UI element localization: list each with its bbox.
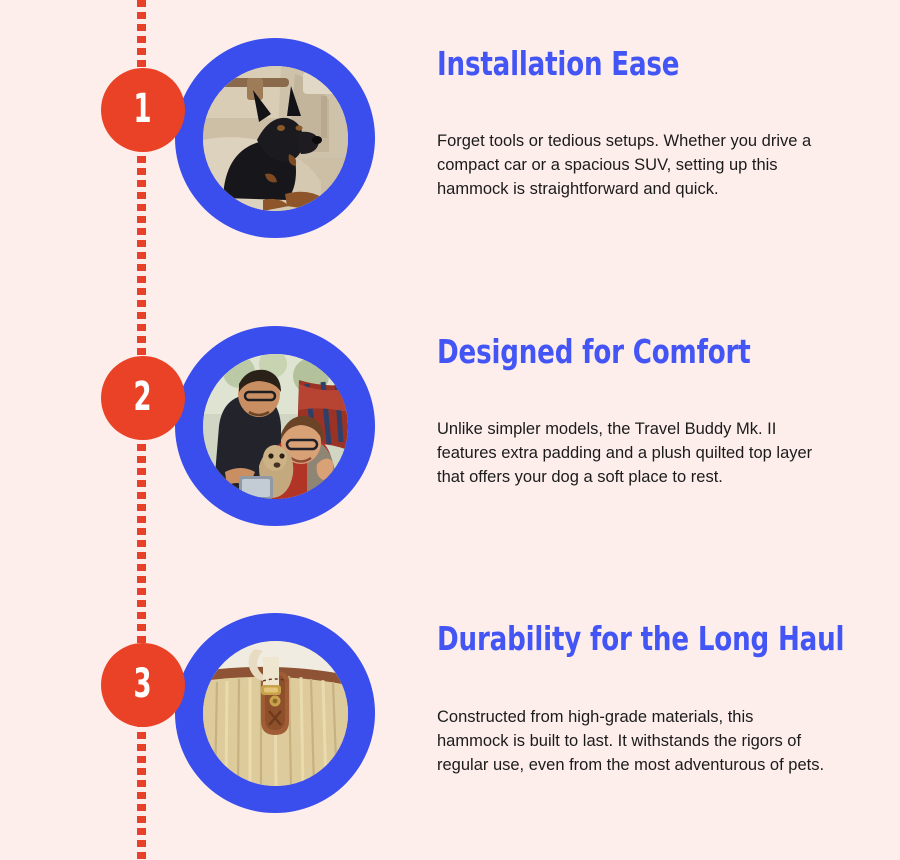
doberman-dog-car-seat-illustration	[203, 66, 348, 211]
step-photo-ring-3	[175, 613, 375, 813]
step-text-column-3: Durability for the Long Haul Constructed…	[437, 605, 837, 777]
step-body-text: Constructed from high-grade materials, t…	[437, 657, 829, 777]
step-title: Durability for the Long Haul	[437, 605, 789, 657]
couple-selfie-with-dog-illustration	[203, 354, 348, 499]
step-title: Installation Ease	[437, 30, 789, 82]
step-text-column-2: Designed for Comfort Unlike simpler mode…	[437, 318, 837, 489]
step-item-3: 3	[0, 605, 900, 825]
step-number-label: 1	[134, 89, 152, 129]
step-photo-ring-2	[175, 326, 375, 526]
step-text-column-1: Installation Ease Forget tools or tediou…	[437, 30, 837, 201]
step-photo-3	[203, 641, 348, 786]
step-item-1: 1	[0, 30, 900, 250]
step-number-badge-1: 1	[101, 68, 185, 152]
step-body-text: Forget tools or tedious setups. Whether …	[437, 82, 829, 201]
step-number-label: 3	[134, 664, 152, 704]
step-photo-ring-1	[175, 38, 375, 238]
step-number-badge-3: 3	[101, 643, 185, 727]
step-item-2: 2	[0, 318, 900, 538]
quilted-hammock-leather-strap-illustration	[203, 641, 348, 786]
step-number-badge-2: 2	[101, 356, 185, 440]
step-photo-1	[203, 66, 348, 211]
step-body-text: Unlike simpler models, the Travel Buddy …	[437, 370, 829, 489]
step-number-label: 2	[134, 377, 152, 417]
step-photo-2	[203, 354, 348, 499]
step-title: Designed for Comfort	[437, 318, 789, 370]
